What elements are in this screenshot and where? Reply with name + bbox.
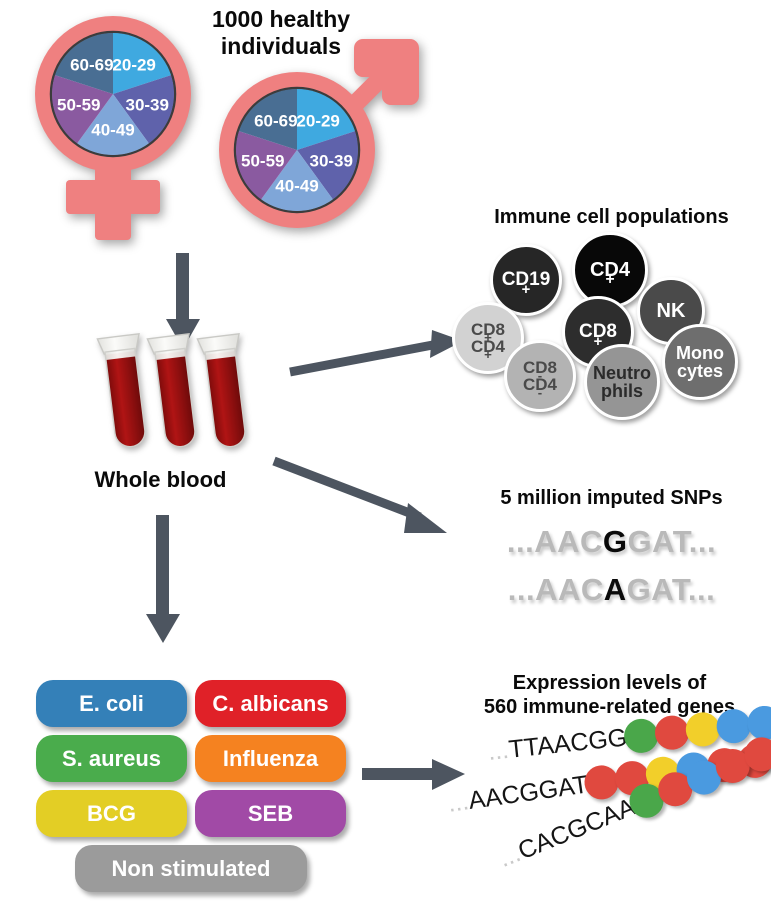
- immune-cell-monocytes: Monocytes: [662, 324, 738, 400]
- immune-cell-cluster: CD19+CD4+CD8+CD4+CD8+NKMonocytesCD8-CD4-…: [452, 232, 771, 422]
- age-pie-female: 20-2930-3940-4950-5960-69: [52, 33, 174, 155]
- stimulus-label: C. albicans: [212, 691, 328, 717]
- stimulation-condition-list: E. coliC. albicansS. aureusInfluenzaBCGS…: [36, 680, 346, 900]
- age-slice-label-50-59: 50-59: [241, 152, 284, 171]
- immune-cell-label: CD8+: [471, 321, 505, 338]
- immune-cell-label: Neutro: [593, 364, 651, 382]
- stimulus-label: S. aureus: [62, 746, 161, 772]
- label-whole-blood: Whole blood: [58, 467, 263, 493]
- stimulus-label: E. coli: [79, 691, 144, 717]
- snp-prefix: ...AAC: [508, 572, 604, 607]
- venus-symbol-with-age-pie: 20-2930-3940-4950-5960-69: [8, 8, 218, 248]
- snp-sequence-rows: ...AACGGAT......AACAGAT...: [452, 524, 771, 619]
- snp-variant-allele: G: [603, 524, 628, 559]
- stimulation-row: S. aureusInfluenza: [36, 735, 346, 782]
- immune-cell-label: CD4+: [471, 338, 505, 355]
- immune-cell-label: CD4+: [590, 260, 630, 280]
- snp-suffix: GAT...: [628, 524, 717, 559]
- stimulus-seb[interactable]: SEB: [195, 790, 346, 837]
- snp-prefix: ...AAC: [507, 524, 603, 559]
- arrow-blood-to-stimuli: [143, 515, 183, 645]
- stimulation-row: BCGSEB: [36, 790, 346, 837]
- snp-variant-allele: A: [604, 572, 627, 607]
- age-slice-label-20-29: 20-29: [296, 111, 339, 130]
- expression-bead-yellow: [684, 711, 721, 748]
- expression-sequence-label: ...TTAACGG: [486, 723, 628, 766]
- expression-bead-red: [653, 714, 690, 751]
- stimulus-influenza[interactable]: Influenza: [195, 735, 346, 782]
- stimulation-row: E. coliC. albicans: [36, 680, 346, 727]
- gene-expression-strands: ...TTAACGG...AACGGAT...CACGCAA: [440, 722, 771, 912]
- stimulus-s-aureus[interactable]: S. aureus: [36, 735, 187, 782]
- immune-cell-label: NK: [657, 301, 686, 321]
- snp-suffix: GAT...: [627, 572, 716, 607]
- age-pie-male: 20-2930-3940-4950-5960-69: [236, 89, 358, 211]
- immune-cell-label: CD19+: [502, 270, 551, 289]
- arrow-blood-to-immune: [288, 330, 468, 385]
- stimulus-bcg[interactable]: BCG: [36, 790, 187, 837]
- immune-cell-cd8-cd4: CD8-CD4-: [504, 340, 576, 412]
- immune-cell-label: CD8-: [523, 359, 557, 376]
- age-slice-label-40-49: 40-49: [275, 177, 318, 196]
- age-slice-label-30-39: 30-39: [309, 152, 352, 171]
- stimulus-label: BCG: [87, 801, 136, 827]
- study-design-diagram: 1000 healthy individuals 20-2930-3940-49…: [0, 0, 771, 922]
- immune-cell-neutrophils: Neutrophils: [584, 344, 660, 420]
- section-title-snps: 5 million imputed SNPs: [452, 487, 771, 511]
- immune-cell-label: phils: [593, 382, 651, 400]
- mars-symbol-with-age-pie: 20-2930-3940-4950-5960-69: [205, 22, 430, 242]
- age-slice-label-60-69: 60-69: [254, 111, 297, 130]
- stimulus-non-stimulated[interactable]: Non stimulated: [75, 845, 307, 892]
- immune-cell-label: Mono: [676, 344, 724, 362]
- stimulus-label: Non stimulated: [112, 856, 271, 882]
- age-slice-label-60-69: 60-69: [70, 55, 113, 74]
- stimulus-e-coli[interactable]: E. coli: [36, 680, 187, 727]
- arrow-blood-to-snps: [272, 455, 457, 540]
- immune-cell-label: cytes: [676, 362, 724, 380]
- immune-cell-label: CD4-: [523, 376, 557, 393]
- age-slice-label-40-49: 40-49: [91, 121, 134, 140]
- whole-blood-tubes: [95, 330, 265, 465]
- immune-cell-cd4: CD4+: [572, 232, 648, 308]
- stimulus-c-albicans[interactable]: C. albicans: [195, 680, 346, 727]
- stimulus-label: SEB: [248, 801, 293, 827]
- snp-sequence-row: ...AACAGAT...: [452, 572, 771, 608]
- section-title-immune-cells: Immune cell populations: [452, 206, 771, 230]
- age-slice-label-30-39: 30-39: [125, 96, 168, 115]
- age-slice-label-50-59: 50-59: [57, 96, 100, 115]
- stimulus-label: Influenza: [223, 746, 318, 772]
- immune-cell-label: CD8+: [579, 322, 617, 341]
- snp-sequence-row: ...AACGGAT...: [452, 524, 771, 560]
- stimulation-row: Non stimulated: [36, 845, 346, 892]
- age-slice-label-20-29: 20-29: [112, 55, 155, 74]
